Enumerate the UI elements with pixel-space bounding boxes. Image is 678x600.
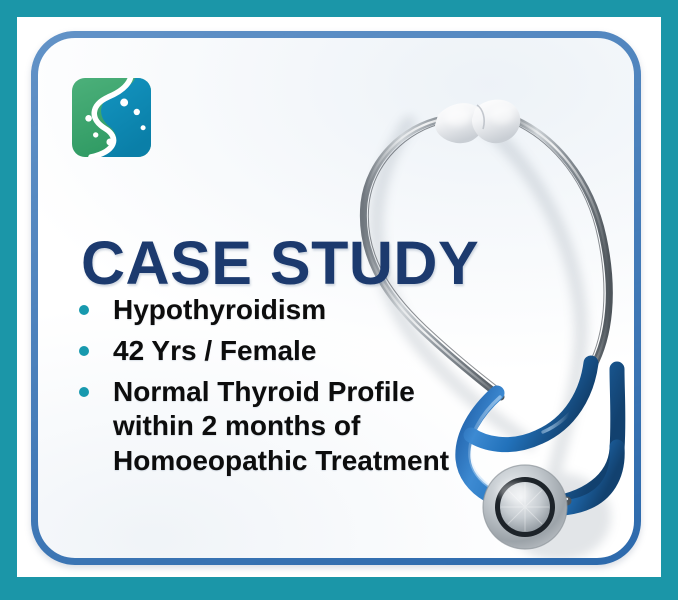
inner-blue-frame <box>31 31 641 565</box>
case-study-poster: CASE STUDY Hypothyroidism 42 Yrs / Femal… <box>0 0 678 600</box>
